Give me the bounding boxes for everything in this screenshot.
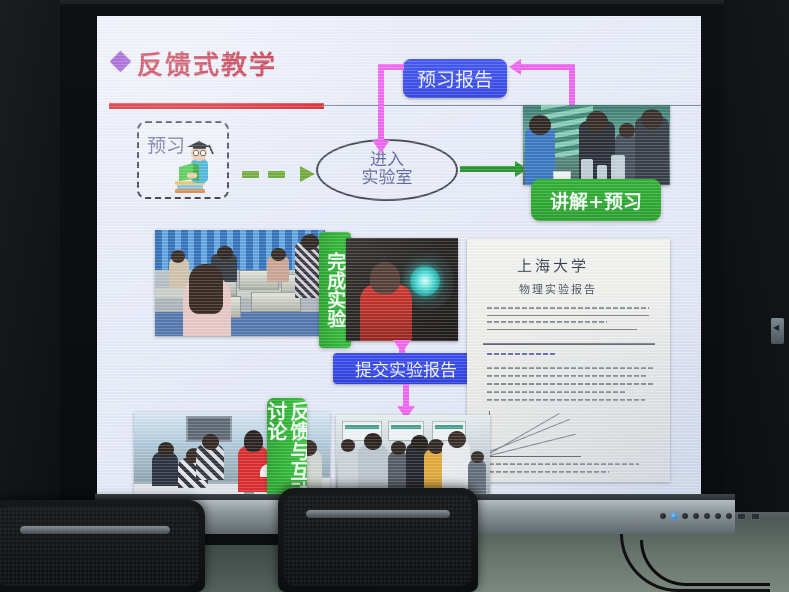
- channel-button[interactable]: [715, 513, 721, 519]
- usb-port[interactable]: [751, 513, 760, 520]
- photo-dark-apparatus: [346, 238, 458, 341]
- usb-port[interactable]: [737, 513, 746, 520]
- node-enter-lab-line2: 实验室: [362, 170, 413, 188]
- photo-group-station: [336, 415, 490, 496]
- arrow-prep-to-lab: [242, 168, 320, 180]
- node-explain-prep-label: 讲解+预习: [550, 187, 642, 214]
- presentation-slide: 反馈式教学 预习: [97, 16, 701, 496]
- node-feedback[interactable]: 反馈与互动讨论: [267, 398, 307, 496]
- display-screen[interactable]: 反馈式教学 预习: [97, 16, 701, 496]
- panel-control-row[interactable]: [660, 508, 780, 524]
- power-button[interactable]: [671, 513, 677, 519]
- arrow-report-to-lab-head: [372, 140, 390, 153]
- node-complete-experiment-label: 完成实验: [325, 252, 346, 328]
- diamond-bullet-icon: [110, 51, 131, 72]
- arrow-explain-to-report-v: [569, 64, 575, 106]
- slide-title: 反馈式教学: [137, 45, 277, 82]
- menu-button[interactable]: [660, 513, 666, 519]
- volume-down-button[interactable]: [693, 513, 699, 519]
- node-prep-report[interactable]: 预习报告: [403, 59, 507, 98]
- node-submit-report[interactable]: 提交实验报告: [333, 353, 479, 384]
- home-button[interactable]: [726, 513, 732, 519]
- report-graph: [489, 411, 581, 457]
- classroom-photo-scene: 反馈式教学 预习: [0, 0, 789, 592]
- photo-lab-bench: [155, 230, 325, 336]
- report-doc-title: 物理实验报告: [519, 281, 597, 297]
- node-submit-report-label: 提交实验报告: [355, 356, 457, 381]
- photo-report-document: 上海大学 物理实验报告: [467, 239, 670, 482]
- arrow-report-to-lab-v: [378, 64, 384, 142]
- report-university: 上海大学: [517, 255, 589, 276]
- node-feedback-label: 反馈与互动讨论: [267, 401, 307, 496]
- back-button[interactable]: [771, 318, 784, 344]
- source-button[interactable]: [682, 513, 688, 519]
- classroom-chair-back: [0, 500, 205, 592]
- node-prep-report-label: 预习报告: [417, 65, 493, 92]
- classroom-chair-back: [278, 488, 478, 592]
- node-prep[interactable]: 预习: [137, 121, 229, 199]
- arrow-lab-to-explain: [460, 166, 516, 172]
- volume-up-button[interactable]: [704, 513, 710, 519]
- photo-teacher-demo: [523, 105, 670, 185]
- arrow-explain-to-report-head: [509, 59, 521, 75]
- arrow-lab-to-submit-head: [393, 340, 411, 353]
- graduate-student-reading-icon: [169, 137, 223, 195]
- arrow-explain-to-report-h: [521, 64, 573, 70]
- node-explain-prep[interactable]: 讲解+预习: [531, 179, 661, 221]
- title-underline-red: [109, 103, 324, 109]
